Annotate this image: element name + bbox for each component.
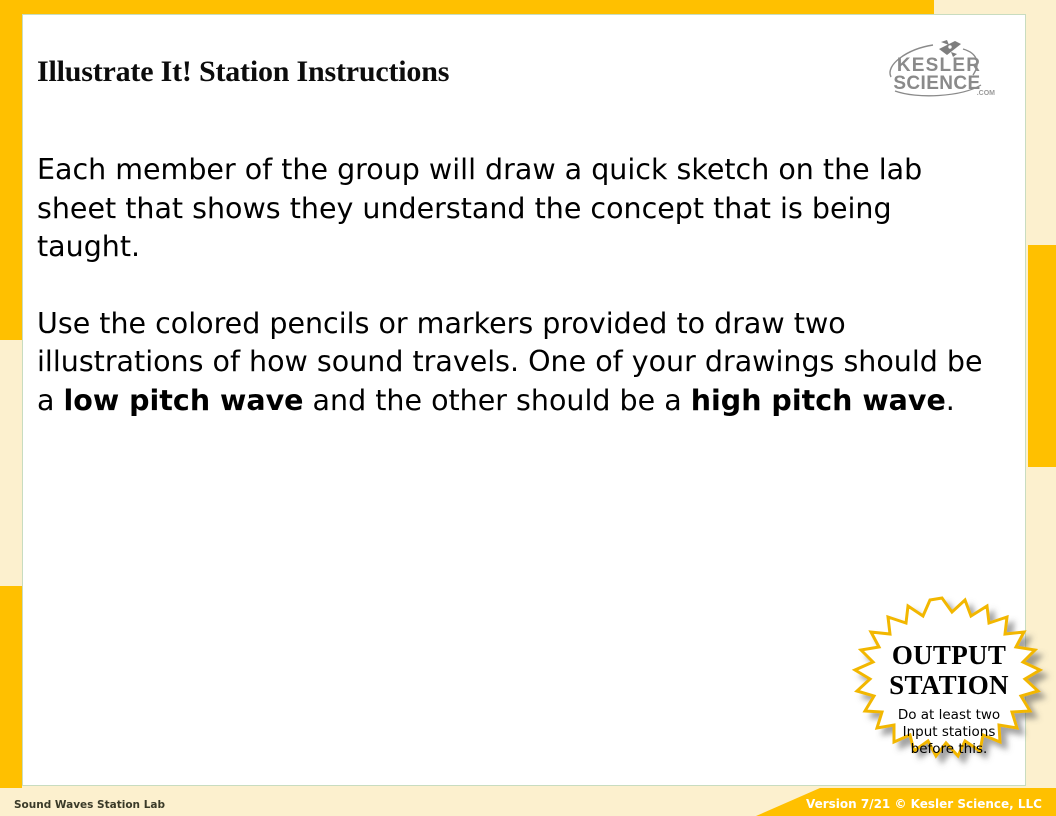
paragraph2-bold-high-pitch: high pitch wave xyxy=(691,384,946,417)
decorative-band-right-block xyxy=(1028,245,1056,467)
page-title: Illustrate It! Station Instructions xyxy=(37,55,449,89)
content-card: Illustrate It! Station Instructions KESL… xyxy=(22,14,1026,786)
instructions-body: Each member of the group will draw a qui… xyxy=(37,151,997,459)
svg-text:.COM: .COM xyxy=(977,90,995,97)
output-station-badge: OUTPUT STATION Do at least two Input sta… xyxy=(837,593,1056,805)
footer-document-label: Sound Waves Station Lab xyxy=(14,799,165,811)
paragraph2-bold-low-pitch: low pitch wave xyxy=(64,384,304,417)
instructions-paragraph-1: Each member of the group will draw a qui… xyxy=(37,151,997,267)
kesler-science-logo: KESLER SCIENCE .COM xyxy=(877,35,1003,97)
footer-version-copyright: Version 7/21 © Kesler Science, LLC xyxy=(806,797,1042,811)
slide-canvas: Illustrate It! Station Instructions KESL… xyxy=(0,0,1056,816)
paragraph2-segment-2: and the other should be a xyxy=(304,384,691,417)
starburst-shape xyxy=(855,598,1040,756)
paragraph2-segment-3: . xyxy=(946,384,955,417)
instructions-paragraph-2: Use the colored pencils or markers provi… xyxy=(37,305,997,421)
decorative-band-left-notch xyxy=(0,340,22,586)
decorative-band-top xyxy=(0,0,934,14)
